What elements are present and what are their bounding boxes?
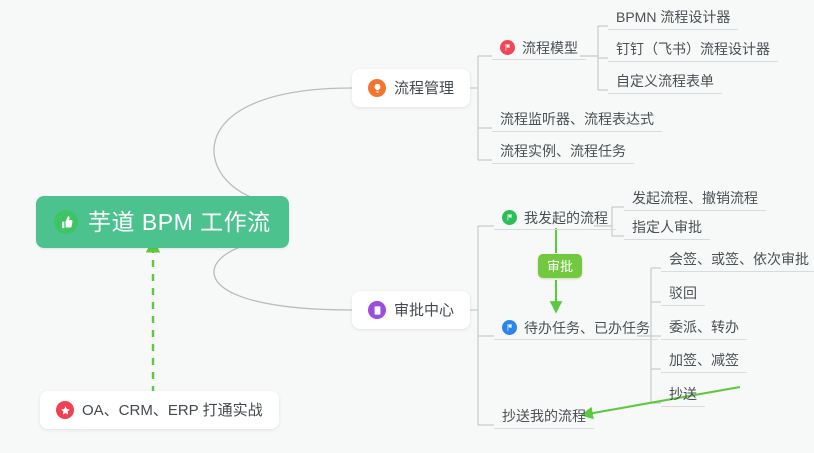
document-icon bbox=[368, 301, 386, 319]
node-carbon-copy[interactable]: 抄送 bbox=[661, 382, 705, 407]
root-node[interactable]: 芋道 BPM 工作流 bbox=[36, 196, 289, 248]
node-instance-task[interactable]: 流程实例、流程任务 bbox=[492, 139, 634, 164]
branch-label: 流程管理 bbox=[394, 81, 454, 96]
branch-process-management[interactable]: 流程管理 bbox=[352, 69, 470, 107]
node-assigned-approver[interactable]: 指定人审批 bbox=[624, 215, 710, 240]
free-node-integration[interactable]: OA、CRM、ERP 打通实战 bbox=[40, 391, 279, 429]
branch-label: 审批中心 bbox=[394, 303, 454, 318]
node-bpmn-designer[interactable]: BPMN 流程设计器 bbox=[608, 5, 738, 30]
node-dingtalk-feishu-designer[interactable]: 钉钉（飞书）流程设计器 bbox=[608, 37, 778, 62]
node-label: 委派、转办 bbox=[669, 320, 739, 334]
node-delegate-transfer[interactable]: 委派、转办 bbox=[661, 315, 747, 340]
node-my-initiated-processes[interactable]: 我发起的流程 bbox=[494, 205, 616, 230]
node-label: 抄送 bbox=[669, 387, 697, 401]
link-root-to-process-management bbox=[214, 88, 352, 203]
link-root-to-approval-center bbox=[214, 240, 352, 310]
node-custom-process-form[interactable]: 自定义流程表单 bbox=[608, 69, 722, 94]
flag-green-icon bbox=[502, 210, 517, 225]
root-node-label: 芋道 BPM 工作流 bbox=[88, 211, 271, 234]
node-todo-done-tasks[interactable]: 待办任务、已办任务 bbox=[494, 315, 658, 340]
node-start-cancel-process[interactable]: 发起流程、撤销流程 bbox=[624, 186, 766, 211]
flow-tag-label: 审批 bbox=[547, 260, 573, 273]
node-label: 发起流程、撤销流程 bbox=[632, 191, 758, 205]
node-label: 会签、或签、依次审批 bbox=[669, 252, 809, 266]
node-add-remove-sign[interactable]: 加签、减签 bbox=[661, 348, 747, 373]
node-cc-to-me-processes[interactable]: 抄送我的流程 bbox=[494, 404, 594, 429]
node-label: 钉钉（飞书）流程设计器 bbox=[616, 42, 770, 56]
node-countersign-modes[interactable]: 会签、或签、依次审批 bbox=[661, 247, 814, 272]
node-label: 待办任务、已办任务 bbox=[524, 321, 650, 335]
node-label: 驳回 bbox=[669, 286, 697, 300]
free-node-label: OA、CRM、ERP 打通实战 bbox=[82, 403, 263, 418]
node-reject[interactable]: 驳回 bbox=[661, 281, 705, 306]
flag-blue-icon bbox=[502, 320, 517, 335]
node-label: 抄送我的流程 bbox=[502, 409, 586, 423]
node-label: 自定义流程表单 bbox=[616, 74, 714, 88]
node-label: 流程实例、流程任务 bbox=[500, 144, 626, 158]
node-label: 流程模型 bbox=[522, 41, 578, 55]
flag-red-icon bbox=[500, 40, 515, 55]
thumbs-up-icon bbox=[54, 210, 78, 234]
node-label: 流程监听器、流程表达式 bbox=[500, 112, 654, 126]
node-label: 指定人审批 bbox=[632, 220, 702, 234]
node-label: BPMN 流程设计器 bbox=[616, 10, 730, 24]
node-listener-expression[interactable]: 流程监听器、流程表达式 bbox=[492, 107, 662, 132]
node-label: 加签、减签 bbox=[669, 353, 739, 367]
star-icon bbox=[56, 401, 74, 419]
lightbulb-icon bbox=[368, 79, 386, 97]
node-process-model[interactable]: 流程模型 bbox=[492, 35, 586, 60]
node-label: 我发起的流程 bbox=[524, 211, 608, 225]
flow-tag-approval: 审批 bbox=[538, 254, 582, 278]
branch-approval-center[interactable]: 审批中心 bbox=[352, 291, 470, 329]
mindmap-canvas: 芋道 BPM 工作流 OA、CRM、ERP 打通实战 流程管理 流程模型 BPM… bbox=[0, 0, 814, 453]
